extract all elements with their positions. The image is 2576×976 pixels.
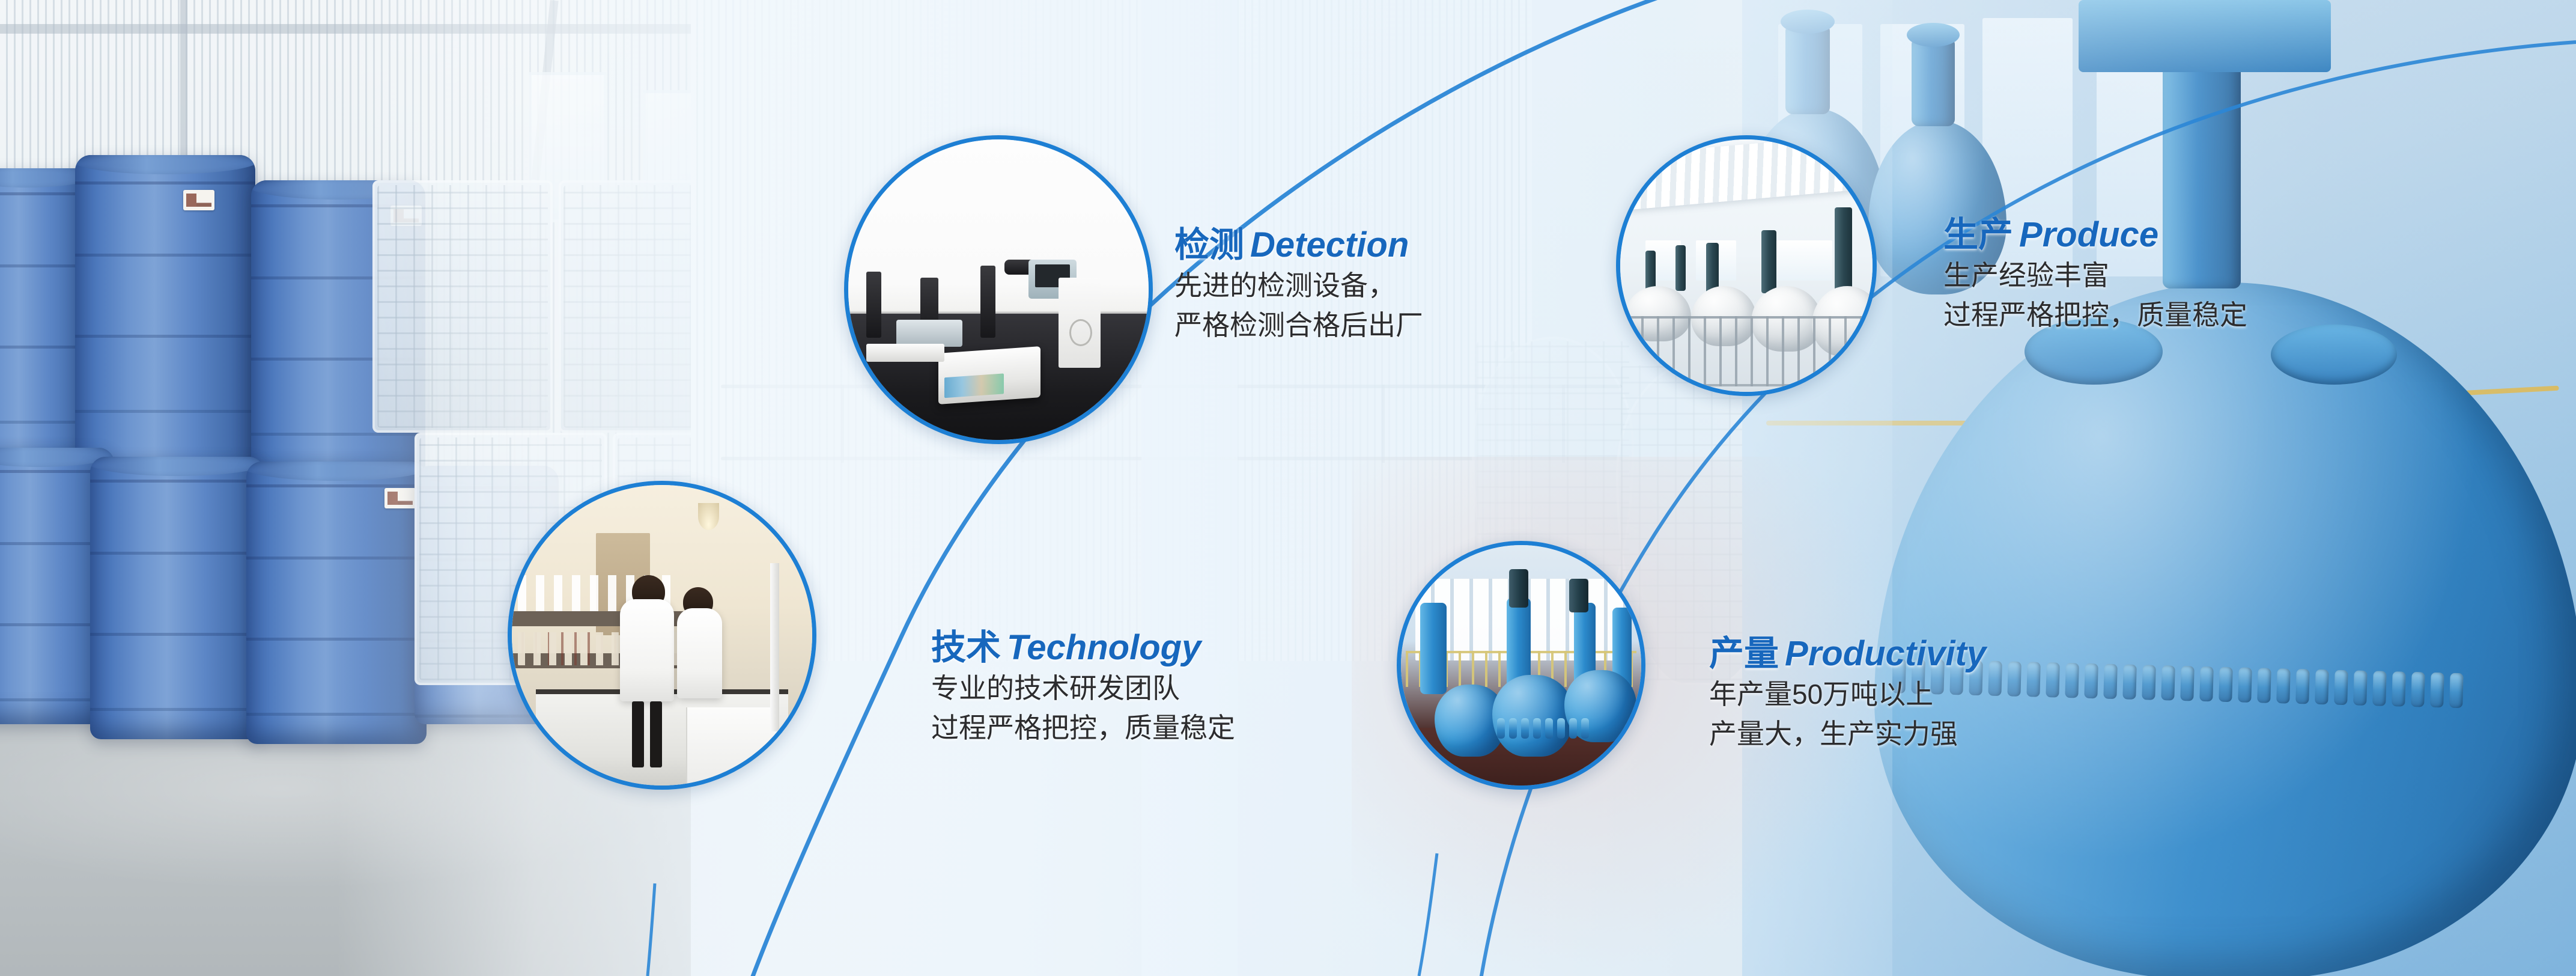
lab-technician (620, 599, 674, 701)
lab-stand (770, 563, 779, 731)
produce-line-2: 过程严格把控，质量稳定 (1943, 295, 2247, 335)
technology-line-2: 过程严格把控，质量稳定 (931, 708, 1235, 748)
technology-title-cn: 技术 (931, 628, 1001, 667)
flange-bolt (1569, 718, 1577, 739)
detection-title-cn: 检测 (1174, 225, 1244, 264)
feature-text-detection: 检测Detection 先进的检测设备， 严格检测合格后出厂 (1174, 225, 1423, 346)
flange-bolt-ring (1497, 718, 1589, 739)
reactor-column (1420, 603, 1447, 694)
technology-line-1: 专业的技术研发团队 (931, 668, 1235, 709)
produce-heading: 生产Produce (1943, 215, 2247, 255)
produce-photo (1620, 139, 1873, 392)
drum-lid (75, 155, 255, 174)
productivity-line-2: 产量大，生产实力强 (1709, 714, 1986, 754)
chemical-drum (75, 155, 255, 483)
flange-bolt (1545, 718, 1553, 739)
produce-title-cn: 生产 (1943, 215, 2013, 254)
instrument-arm (866, 272, 881, 338)
agitator-motor (1706, 243, 1719, 293)
blue-reactor (1492, 675, 1574, 757)
instrument-box (896, 320, 962, 347)
productivity-photo (1401, 545, 1641, 785)
instrument-arm (980, 266, 995, 338)
detection-title-en: Detection (1250, 225, 1409, 264)
productivity-line-1: 年产量50万吨以上 (1709, 674, 1986, 715)
feature-text-technology: 技术Technology 专业的技术研发团队 过程严格把控，质量稳定 (931, 628, 1235, 748)
person-legs (632, 701, 644, 767)
flange-bolt (1509, 718, 1517, 739)
agitator-motor (1835, 207, 1852, 298)
flange-bolt (1497, 718, 1505, 739)
productivity-title-en: Productivity (1785, 634, 1986, 673)
person-legs (650, 701, 662, 767)
instrument-cabinet (1059, 278, 1101, 368)
agitator-motor (1645, 251, 1656, 291)
detection-heading: 检测Detection (1174, 225, 1423, 266)
flange-bolt (1533, 718, 1541, 739)
detection-line-1: 先进的检测设备， (1174, 266, 1423, 306)
technology-title-en: Technology (1007, 628, 1201, 667)
technology-photo (512, 485, 812, 785)
reactor-motor (1569, 579, 1588, 612)
detection-photo (848, 139, 1149, 440)
agitator-motor (1761, 230, 1776, 293)
detection-line-2: 严格检测合格后出厂 (1174, 305, 1423, 346)
feature-photo-productivity[interactable] (1397, 541, 1645, 790)
produce-title-en: Produce (2019, 215, 2158, 254)
feature-photo-technology[interactable] (508, 481, 816, 790)
feature-text-produce: 生产Produce 生产经验丰富 过程严格把控，质量稳定 (1943, 215, 2247, 335)
chemical-drum (90, 457, 264, 739)
feature-photo-produce[interactable] (1616, 135, 1877, 396)
reactor-motor (1509, 569, 1528, 608)
flange-bolt (1557, 718, 1565, 739)
company-strength-banner: 检测Detection 先进的检测设备， 严格检测合格后出厂 技术Technol… (0, 0, 2576, 976)
ceiling-lamp (698, 503, 719, 530)
flange-bolt (1521, 718, 1529, 739)
lab-technician (677, 608, 722, 698)
instrument-box (866, 344, 944, 362)
safety-railing (1616, 316, 1877, 386)
drum-lid (90, 457, 264, 476)
agitator-motor (1675, 245, 1686, 291)
feature-photo-detection[interactable] (844, 135, 1153, 444)
productivity-heading: 产量Productivity (1709, 634, 1986, 674)
hall-window (1776, 240, 1832, 281)
productivity-title-cn: 产量 (1709, 634, 1779, 673)
digital-scale (938, 346, 1040, 404)
feature-text-productivity: 产量Productivity 年产量50万吨以上 产量大，生产实力强 (1709, 634, 1986, 754)
drum-label (183, 190, 214, 210)
produce-line-1: 生产经验丰富 (1943, 255, 2247, 296)
technology-heading: 技术Technology (931, 628, 1235, 668)
ceiling-beam (180, 0, 187, 156)
lab-fridge (686, 707, 777, 785)
hall-roof (1616, 135, 1877, 212)
flange-bolt (1581, 718, 1589, 739)
